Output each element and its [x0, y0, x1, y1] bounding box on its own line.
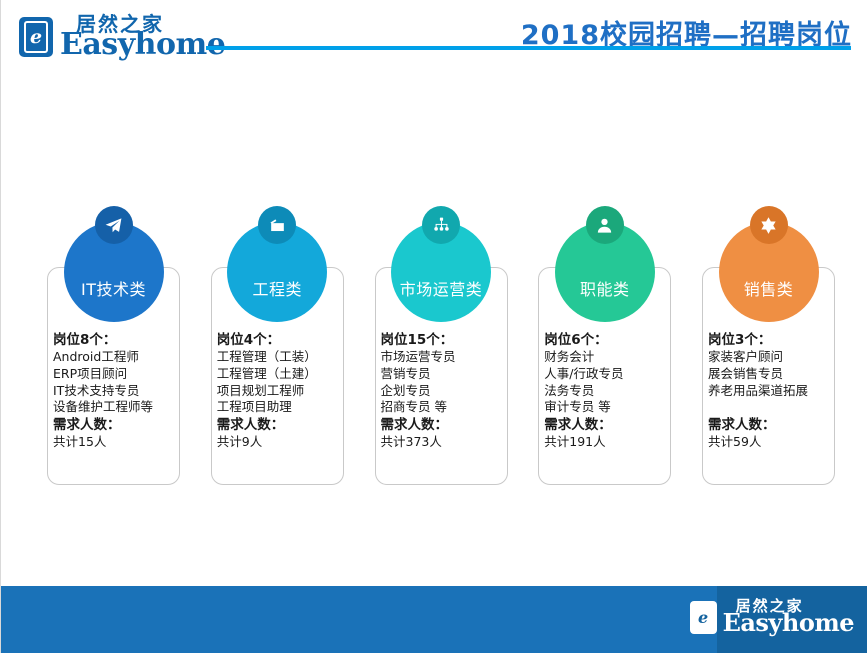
org-chart-icon	[422, 206, 460, 244]
detail-heading: 需求人数：	[544, 416, 669, 434]
detail-heading: 需求人数：	[708, 416, 833, 434]
job-category-card[interactable]: 市场运营类岗位15个：市场运营专员营销专员企划专员招商专员 等需求人数：共计37…	[369, 218, 514, 493]
card-detail-list: 岗位3个：家装客户顾问展会销售专员养老用品渠道拓展需求人数：共计59人	[708, 331, 833, 451]
footer-brand-logo: e 居然之家 Easyhome	[690, 599, 854, 635]
brand-logo-text: 居然之家 Easyhome	[60, 14, 225, 60]
detail-line: 工程管理（土建）	[217, 366, 342, 383]
title-underline-rule	[206, 46, 851, 50]
detail-line: 共计191人	[544, 434, 669, 451]
card-detail-list: 岗位15个：市场运营专员营销专员企划专员招商专员 等需求人数：共计373人	[381, 331, 506, 451]
easyhome-logo-mark: e	[19, 17, 53, 57]
brand-logo: e 居然之家 Easyhome	[19, 14, 225, 60]
detail-line: 企划专员	[381, 383, 506, 400]
footer-brand-name-en: Easyhome	[723, 611, 854, 635]
detail-line: 工程项目助理	[217, 399, 342, 416]
job-category-card[interactable]: IT技术类岗位8个：Android工程师ERP项目顾问IT技术支持专员设备维护工…	[41, 218, 186, 493]
category-label: 市场运营类	[400, 276, 483, 300]
detail-line: 共计15人	[53, 434, 178, 451]
card-detail-list: 岗位6个：财务会计人事/行政专员法务专员审计专员 等需求人数：共计191人	[544, 331, 669, 451]
detail-line: 市场运营专员	[381, 349, 506, 366]
slide-header: e 居然之家 Easyhome 2018校园招聘—招聘岗位	[1, 0, 867, 90]
user-icon	[586, 206, 624, 244]
detail-line: 工程管理（工装）	[217, 349, 342, 366]
footer-logo-mark: e	[690, 601, 717, 634]
paper-plane-icon	[95, 206, 133, 244]
detail-heading: 岗位4个：	[217, 331, 342, 349]
detail-line: 共计373人	[381, 434, 506, 451]
job-category-card[interactable]: 职能类岗位6个：财务会计人事/行政专员法务专员审计专员 等需求人数：共计191人	[532, 218, 677, 493]
detail-heading: 需求人数：	[381, 416, 506, 434]
detail-heading: 岗位3个：	[708, 331, 833, 349]
category-label: IT技术类	[81, 276, 146, 300]
footer-brand-logo-text: 居然之家 Easyhome	[723, 599, 854, 635]
job-category-card[interactable]: 工程类岗位4个：工程管理（工装）工程管理（土建）项目规划工程师工程项目助理需求人…	[205, 218, 350, 493]
detail-line: 招商专员 等	[381, 399, 506, 416]
slide-footer: e 居然之家 Easyhome	[1, 586, 867, 653]
detail-line: ERP项目顾问	[53, 366, 178, 383]
spacer-line	[708, 399, 833, 416]
detail-heading: 需求人数：	[217, 416, 342, 434]
card-detail-list: 岗位4个：工程管理（工装）工程管理（土建）项目规划工程师工程项目助理需求人数：共…	[217, 331, 342, 451]
briefcase-icon	[258, 206, 296, 244]
detail-line: 共计59人	[708, 434, 833, 451]
detail-heading: 岗位6个：	[544, 331, 669, 349]
star-badge-icon	[750, 206, 788, 244]
detail-line: 法务专员	[544, 383, 669, 400]
detail-heading: 岗位8个：	[53, 331, 178, 349]
detail-line: 审计专员 等	[544, 399, 669, 416]
job-category-card[interactable]: 销售类岗位3个：家装客户顾问展会销售专员养老用品渠道拓展需求人数：共计59人	[696, 218, 841, 493]
job-category-cards: IT技术类岗位8个：Android工程师ERP项目顾问IT技术支持专员设备维护工…	[41, 218, 841, 493]
category-label: 职能类	[580, 276, 630, 300]
detail-line: 家装客户顾问	[708, 349, 833, 366]
detail-line: 项目规划工程师	[217, 383, 342, 400]
detail-heading: 岗位15个：	[381, 331, 506, 349]
brand-name-en: Easyhome	[60, 30, 225, 60]
detail-line: 展会销售专员	[708, 366, 833, 383]
detail-line: 养老用品渠道拓展	[708, 383, 833, 400]
detail-line: 共计9人	[217, 434, 342, 451]
detail-line: Android工程师	[53, 349, 178, 366]
detail-heading: 需求人数：	[53, 416, 178, 434]
detail-line: 人事/行政专员	[544, 366, 669, 383]
detail-line: 财务会计	[544, 349, 669, 366]
detail-line: IT技术支持专员	[53, 383, 178, 400]
detail-line: 设备维护工程师等	[53, 399, 178, 416]
logo-mark-letter: e	[19, 17, 53, 57]
card-detail-list: 岗位8个：Android工程师ERP项目顾问IT技术支持专员设备维护工程师等需求…	[53, 331, 178, 451]
slide-root: e 居然之家 Easyhome 2018校园招聘—招聘岗位 IT技术类岗位8个：…	[0, 0, 867, 653]
category-label: 销售类	[744, 276, 794, 300]
detail-line: 营销专员	[381, 366, 506, 383]
footer-logo-mark-letter: e	[690, 601, 717, 634]
category-label: 工程类	[252, 276, 302, 300]
